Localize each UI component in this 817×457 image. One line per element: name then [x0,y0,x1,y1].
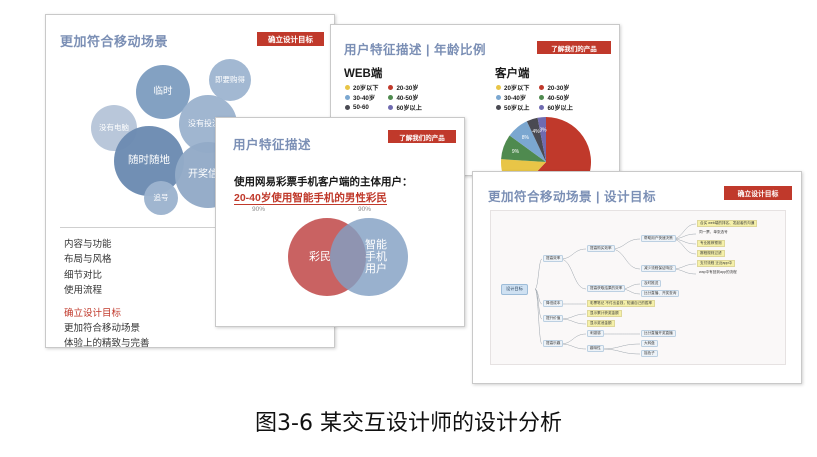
legend-label: 40-50岁 [396,93,418,102]
legend-swatch-icon [496,95,501,100]
pie-data-label: 3% [539,128,547,134]
legend-label: 50岁以上 [504,103,529,112]
slide2-title: 用户特征描述 | 年龄比例 [344,39,486,58]
venn-circle-smartphone-users: 智能手机用户 [330,218,408,296]
mindmap-image: 设计目标提高效率提高购买效率帮助用户快速决策合买 web端的排名、发起者的沟通同… [490,210,786,365]
outline-item: 布局与风格 [64,252,150,267]
web-legend: 20岁以下20-30岁30-40岁40-50岁50-6060岁以上 [345,83,422,112]
mindmap-node-d3: 摇色子 [641,350,658,357]
client-legend-item: 40-50岁 [539,93,572,102]
mindmap-node-d3: 减少流程保证响应 [641,265,676,272]
web-legend-item: 20-30岁 [388,83,421,92]
slide3-title: 用户特征描述 [233,134,311,153]
mindmap-node-d4: 合买 web端的排名、发起者的沟通 [697,220,757,227]
client-legend: 20岁以下20-30岁30-40岁40-50岁50岁以上60岁以上 [496,83,573,112]
mindmap-root-node: 设计目标 [501,284,528,295]
client-legend-item: 20岁以下 [496,83,529,92]
web-column-heading: WEB端 [344,65,382,81]
legend-swatch-icon [388,105,393,110]
outline-item: 使用流程 [64,283,150,298]
outline-item: 体验上的精致与完善 [64,336,150,348]
figure-caption: 图3-6 某交互设计师的设计分析 [0,405,817,437]
legend-swatch-icon [345,95,350,100]
legend-label: 20岁以下 [353,83,378,92]
slide4-title: 更加符合移动场景 | 设计目标 [488,186,656,205]
web-legend-item: 60岁以上 [388,103,421,112]
mindmap-node-d3: 帮助用户快速决策 [641,235,676,242]
mindmap-edge [560,344,586,349]
mindmap-node-d1: 提高乐趣 [543,340,563,347]
slide-user-profile[interactable]: 用户特征描述 了解我们的产品 使用网易彩票手机客户端的主体用户： 20-40岁使… [215,117,465,327]
slide3-pct-left: 90% [252,206,265,213]
outline-item: 确立设计目标 [64,306,150,321]
bubble-label: 随时随地 [128,155,170,166]
mindmap-node-d2: 彩票笔记 不付出金钱，知道自己的胜率 [587,300,655,307]
client-legend-item: 50岁以上 [496,103,529,112]
figure-canvas: 更加符合移动场景 确立设计目标 临时即要购得没有电脑没有投注站随时随地开奖信息追… [0,0,817,457]
web-legend-item: 30-40岁 [345,93,378,102]
mindmap-node-d4: wap中有回到app的流程 [697,270,739,275]
outline-item: 更加符合移动场景 [64,321,150,336]
slide1-title: 更加符合移动场景 [60,31,168,50]
mindmap-edge [535,259,542,289]
mindmap-node-d2: 提高获取结果的效率 [587,285,625,292]
mindmap-edge [611,249,640,269]
legend-label: 20岁以下 [504,83,529,92]
web-legend-item: 50-60 [345,103,378,112]
slide1-tag-button[interactable]: 确立设计目标 [257,32,324,46]
outline-item: 细节对比 [64,268,150,283]
mindmap-node-d4: 同一票、单张选号 [697,230,730,235]
mindmap-node-d4: 专业推荐预测 [697,240,725,247]
venn-diagram: 彩民 智能手机用户 [288,218,408,298]
bubble-label: 没有电脑 [99,124,129,132]
client-pie-chart: 62%14%9%8%4%3% [501,117,591,176]
legend-label: 60岁以上 [547,103,572,112]
mindmap-node-d2: 显示奖池金额 [587,320,615,327]
legend-label: 20-30岁 [396,83,418,92]
legend-label: 30-40岁 [353,93,375,102]
mindmap-edge [560,314,586,319]
legend-swatch-icon [539,95,544,100]
mindmap-edge [601,349,640,354]
mindmap-edge [560,319,586,324]
web-legend-item: 40-50岁 [388,93,421,102]
outline-gap [64,299,150,306]
mindmap-node-d2: 趣味性 [587,345,604,352]
legend-swatch-icon [345,85,350,90]
legend-label: 20-30岁 [547,83,569,92]
bubble-label: 即要购得 [215,76,245,84]
bubble-label: 追号 [154,194,169,202]
mindmap-edge [560,334,586,344]
legend-label: 40-50岁 [547,93,569,102]
mindmap-node-d1: 提升价值 [543,315,563,322]
legend-swatch-icon [496,85,501,90]
mindmap-connectors [491,211,787,366]
slide4-tag-button[interactable]: 确立设计目标 [724,186,792,200]
client-legend-item: 20-30岁 [539,83,572,92]
mindmap-node-d3: 大转盘 [641,340,658,347]
legend-swatch-icon [539,105,544,110]
mindmap-node-d3: 比分直播开奖直播 [641,330,676,337]
mindmap-edge [601,344,640,349]
mindmap-node-d3: 及时推送 [641,280,661,287]
mindmap-node-d1: 提高效率 [543,255,563,262]
client-column-heading: 客户端 [495,65,530,81]
slide3-tag-button[interactable]: 了解我们的产品 [388,130,456,143]
mindmap-node-d3: 比分直播、开奖查询 [641,290,679,297]
mindmap-node-d4: 赛程规则过滤 [697,250,725,257]
client-pie-svg: 62%14%9%8%4%3% [501,117,591,176]
mindmap-node-d2: 刺激感 [587,330,604,337]
client-legend-item: 60岁以上 [539,103,572,112]
mindmap-node-d4: 支付流程 迁近app中 [697,260,735,267]
legend-swatch-icon [388,85,393,90]
mindmap-node-d1: 降低成本 [543,300,563,307]
legend-swatch-icon [496,105,501,110]
pie-data-label: 8% [522,135,530,141]
outline-item: 内容与功能 [64,237,150,252]
web-legend-item: 20岁以下 [345,83,378,92]
bubble-2: 即要购得 [209,59,251,101]
slide3-highlight-statement: 20-40岁使用智能手机的男性彩民 [234,190,387,205]
slide3-statement: 使用网易彩票手机客户端的主体用户： [234,174,413,189]
mindmap-edge [611,239,640,249]
mindmap-node-d2: 显示累计获奖金额 [587,310,622,317]
slide1-outline-list: 内容与功能布局与风格细节对比使用流程确立设计目标更加符合移动场景体验上的精致与完… [64,237,150,348]
legend-swatch-icon [539,85,544,90]
bubble-label: 临时 [153,87,172,97]
legend-label: 60岁以上 [396,103,421,112]
legend-label: 30-40岁 [504,93,526,102]
slide-design-goals[interactable]: 更加符合移动场景 | 设计目标 确立设计目标 设计目标提高效率提高购买效率帮助用… [472,171,802,384]
mindmap-edge [560,259,586,289]
client-legend-item: 30-40岁 [496,93,529,102]
legend-swatch-icon [388,95,393,100]
pie-data-label: 9% [512,149,520,155]
legend-swatch-icon [345,105,350,110]
slide3-pct-right: 90% [358,206,371,213]
bubble-7: 追号 [144,181,178,215]
mindmap-node-d2: 提高购买效率 [587,245,615,252]
mindmap-edge [560,249,586,259]
legend-label: 50-60 [353,104,369,111]
slide2-tag-button[interactable]: 了解我们的产品 [537,41,611,54]
